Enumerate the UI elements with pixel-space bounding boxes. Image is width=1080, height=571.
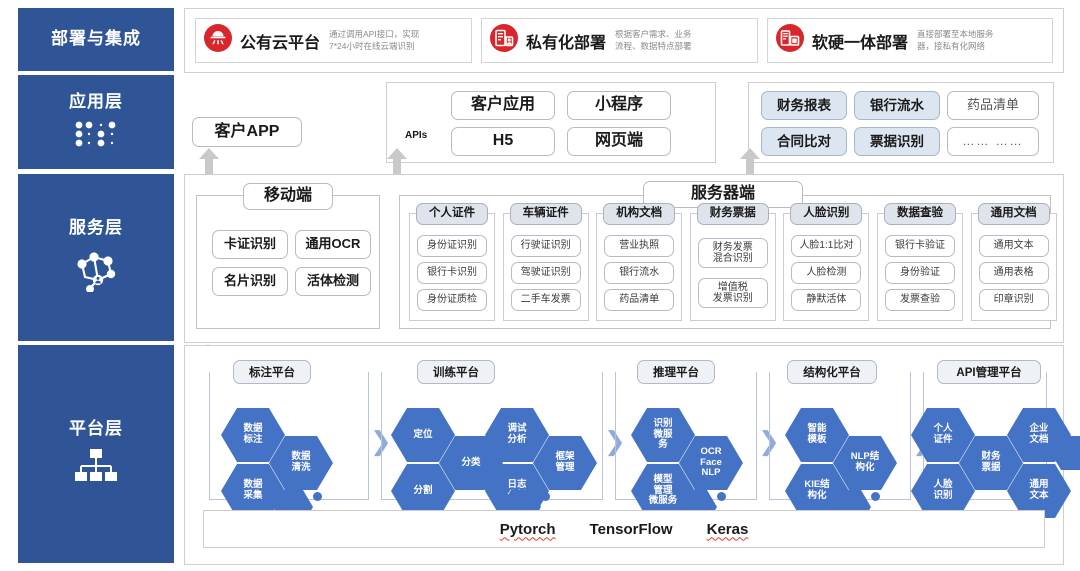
- hardware-integration-icon: [775, 23, 805, 58]
- solution-contract-compare[interactable]: 合同比对: [761, 127, 847, 156]
- server-item[interactable]: 通用文本: [979, 235, 1049, 257]
- deployment-card-hardware-integration[interactable]: 软硬一体部署 直接部署至本地服务 器，接私有化网络: [767, 18, 1053, 63]
- mobile-item-label: 名片识别: [224, 274, 276, 289]
- hex-dot-decoration: [871, 492, 880, 501]
- solution-label: 票据识别: [870, 134, 924, 150]
- server-item[interactable]: 营业执照: [604, 235, 674, 257]
- sidebar-item-label: 部署与集成: [51, 29, 141, 49]
- solution-label: …… ……: [962, 135, 1023, 149]
- desc-line-1: 通过调用API接口，实现: [329, 29, 419, 39]
- application-layer: 客户APP APIs 客户应用 小程序 H5 网页端 财务报表 银行流水: [184, 76, 1062, 169]
- service-layer: 移动端 卡证识别 通用OCR 名片识别 活体检测 服务器端 个人证件身份证识别银…: [184, 174, 1064, 343]
- desc-line-2: 流程、数据特点部署: [615, 41, 692, 51]
- deployment-card-desc: 通过调用API接口，实现 7*24小时在线云端识别: [329, 29, 419, 52]
- hex-dot-decoration: [1047, 428, 1055, 436]
- api-target-miniprogram[interactable]: 小程序: [567, 91, 671, 120]
- solution-label: 药品清单: [967, 98, 1019, 113]
- hierarchy-icon: [72, 448, 120, 489]
- server-item[interactable]: 银行流水: [604, 262, 674, 284]
- mobile-item-business-card[interactable]: 名片识别: [212, 267, 288, 296]
- mobile-item-label: 活体检测: [307, 274, 359, 289]
- sidebar-item-deployment[interactable]: 部署与集成: [18, 8, 174, 71]
- server-item[interactable]: 通用表格: [979, 262, 1049, 284]
- server-column-header[interactable]: 数据查验: [884, 203, 956, 225]
- solution-bill-recognition[interactable]: 票据识别: [854, 127, 940, 156]
- private-deploy-icon: [489, 23, 519, 58]
- sidebar-item-label: 服务层: [69, 218, 123, 238]
- mobile-item-label: 卡证识别: [224, 237, 276, 252]
- framework-keras[interactable]: Keras: [707, 521, 749, 538]
- solution-bank-statement[interactable]: 银行流水: [854, 91, 940, 120]
- desc-line-2: 器，接私有化网络: [917, 41, 985, 51]
- deployment-card-public-cloud[interactable]: 公有云平台 通过调用API接口，实现 7*24小时在线云端识别: [195, 18, 472, 63]
- server-column-header[interactable]: 人脸识别: [790, 203, 862, 225]
- deployment-card-title: 软硬一体部署: [812, 29, 908, 53]
- api-target-label: 小程序: [595, 96, 643, 114]
- deployment-layer: 公有云平台 通过调用API接口，实现 7*24小时在线云端识别: [184, 8, 1064, 73]
- solution-label: 财务报表: [777, 98, 831, 114]
- server-item[interactable]: 银行卡识别: [417, 262, 487, 284]
- apis-label: APIs: [405, 130, 427, 141]
- mobile-group: [196, 195, 380, 329]
- framework-bar: Pytorch TensorFlow Keras: [203, 510, 1045, 548]
- server-column-header[interactable]: 机构文档: [603, 203, 675, 225]
- server-title-label: 服务器端: [691, 185, 755, 203]
- server-column-header[interactable]: 车辆证件: [510, 203, 582, 225]
- deployment-card-title: 私有化部署: [526, 29, 606, 53]
- server-item[interactable]: 驾驶证识别: [511, 262, 581, 284]
- server-item[interactable]: 银行卡验证: [885, 235, 955, 257]
- framework-tensorflow[interactable]: TensorFlow: [590, 521, 673, 538]
- api-targets-group: APIs 客户应用 小程序 H5 网页端: [386, 82, 716, 163]
- mobile-group-title: 移动端: [243, 183, 333, 210]
- server-item[interactable]: 人脸检测: [791, 262, 861, 284]
- server-item[interactable]: 财务发票 混合识别: [698, 238, 768, 268]
- deployment-card-desc: 根据客户需求、业务 流程、数据特点部署: [615, 29, 692, 52]
- client-app-label: 客户APP: [215, 123, 280, 141]
- hex-dot-decoration: [717, 492, 726, 501]
- server-item[interactable]: 身份证质检: [417, 289, 487, 311]
- sidebar-item-service[interactable]: 服务层: [18, 174, 174, 341]
- sidebar-item-label: 平台层: [69, 419, 123, 439]
- solution-finance-report[interactable]: 财务报表: [761, 91, 847, 120]
- deployment-card-private-deploy[interactable]: 私有化部署 根据客户需求、业务 流程、数据特点部署: [481, 18, 758, 63]
- desc-line-2: 7*24小时在线云端识别: [329, 41, 415, 51]
- api-target-label: H5: [493, 132, 513, 150]
- deployment-card-title: 公有云平台: [240, 29, 320, 53]
- server-item[interactable]: 发票查验: [885, 289, 955, 311]
- server-column-header[interactable]: 通用文档: [978, 203, 1050, 225]
- hex-dot-decoration: [1047, 470, 1055, 478]
- solution-label: 银行流水: [870, 98, 924, 114]
- mobile-title-label: 移动端: [264, 187, 312, 205]
- server-item[interactable]: 身份验证: [885, 262, 955, 284]
- server-item[interactable]: 药品清单: [604, 289, 674, 311]
- server-item[interactable]: 静默活体: [791, 289, 861, 311]
- framework-pytorch[interactable]: Pytorch: [500, 521, 556, 538]
- hex-dot-decoration: [541, 492, 550, 501]
- api-target-kehu[interactable]: 客户应用: [451, 91, 555, 120]
- server-item[interactable]: 印章识别: [979, 289, 1049, 311]
- api-target-label: 客户应用: [471, 96, 535, 114]
- server-item[interactable]: 增值税 发票识别: [698, 278, 768, 308]
- server-item[interactable]: 身份证识别: [417, 235, 487, 257]
- dot-grid-icon: [74, 121, 118, 152]
- solutions-group: 财务报表 银行流水 药品清单 合同比对 票据识别 …… ……: [748, 82, 1054, 163]
- hex-dot-decoration: [313, 492, 322, 501]
- platform-group-title[interactable]: 结构化平台: [787, 360, 877, 384]
- solution-more[interactable]: …… ……: [947, 127, 1039, 156]
- solution-label: 合同比对: [777, 134, 831, 150]
- network-nodes-icon: [70, 248, 122, 297]
- sidebar-item-platform[interactable]: 平台层: [18, 345, 174, 563]
- platform-group-title[interactable]: 标注平台: [233, 360, 311, 384]
- platform-group-title[interactable]: API管理平台: [937, 360, 1041, 384]
- sidebar-item-label: 应用层: [69, 92, 123, 112]
- api-target-h5[interactable]: H5: [451, 127, 555, 156]
- api-target-label: 网页端: [595, 132, 643, 150]
- mobile-item-card-recognition[interactable]: 卡证识别: [212, 230, 288, 259]
- client-app-box[interactable]: 客户APP: [192, 117, 302, 147]
- platform-group-title[interactable]: 训练平台: [417, 360, 495, 384]
- server-column-header[interactable]: 财务票据: [697, 203, 769, 225]
- api-target-web[interactable]: 网页端: [567, 127, 671, 156]
- server-item[interactable]: 行驶证识别: [511, 235, 581, 257]
- deployment-card-desc: 直接部署至本地服务 器，接私有化网络: [917, 29, 994, 52]
- platform-layer: 标注平台数据 标注数据 清洗数据 采集❯训练平台定位分类分割调试 分析日志 分析…: [184, 345, 1064, 565]
- platform-group-title[interactable]: 推理平台: [637, 360, 715, 384]
- solution-drug-list[interactable]: 药品清单: [947, 91, 1039, 120]
- mobile-item-liveness[interactable]: 活体检测: [295, 267, 371, 296]
- desc-line-1: 直接部署至本地服务: [917, 29, 994, 39]
- architecture-diagram: 部署与集成 应用层 服务层: [0, 0, 1080, 571]
- server-item[interactable]: 二手车发票: [511, 289, 581, 311]
- public-cloud-icon: [203, 23, 233, 58]
- desc-line-1: 根据客户需求、业务: [615, 29, 692, 39]
- sidebar-item-application[interactable]: 应用层: [18, 75, 174, 169]
- server-column-header[interactable]: 个人证件: [416, 203, 488, 225]
- mobile-item-general-ocr[interactable]: 通用OCR: [295, 230, 371, 259]
- mobile-item-label: 通用OCR: [306, 237, 361, 252]
- layer-sidebar: 部署与集成 应用层 服务层: [18, 0, 174, 571]
- server-item[interactable]: 人脸1:1比对: [791, 235, 861, 257]
